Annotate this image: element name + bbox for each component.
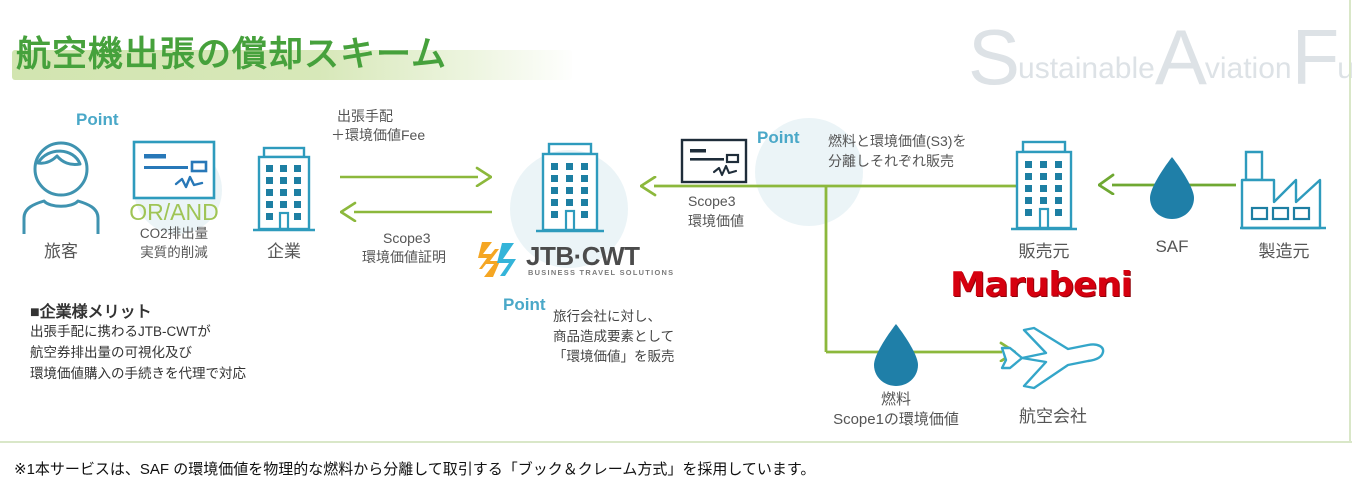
saf-watermark: SustainableAviationFuel	[968, 18, 1348, 108]
flow-label-arrange-line1: 出張手配	[337, 107, 393, 126]
certificate-icon-middle	[680, 138, 748, 184]
point-label-left: Point	[76, 110, 119, 130]
merit-line1: 出張手配に携わるJTB-CWTが	[30, 322, 211, 342]
flow-label-scope3-proof-line1: Scope3	[383, 229, 430, 248]
building-icon-jtb	[535, 142, 605, 238]
watermark-a: A	[1155, 13, 1205, 101]
diagram-canvas: SustainableAviationFuel 航空機出張の償却スキーム 旅客 …	[0, 0, 1352, 492]
fuel-caption-line1: 燃料	[862, 388, 930, 409]
person-icon	[18, 138, 104, 234]
jtb-logo-mark-icon	[478, 240, 520, 280]
watermark-f: F	[1292, 13, 1338, 101]
merit-line3: 環境価値購入の手続きを代理で対応	[30, 364, 246, 384]
airplane-icon	[1000, 322, 1106, 396]
or-and-label: OR/AND	[118, 199, 230, 226]
footnote-text: ※1本サービスは、SAF の環境価値を物理的な燃料から分離して取引する「ブック＆…	[14, 458, 815, 479]
co2-note-line2: 実質的削減	[112, 244, 236, 263]
flow-label-scope3-value-line1: Scope3	[688, 192, 735, 211]
flow-label-scope3-proof-line2: 環境価値証明	[362, 248, 446, 267]
airline-caption: 航空会社	[1000, 402, 1106, 427]
bottom-border-rule	[0, 441, 1352, 443]
marubeni-logo: Marubeni	[950, 265, 1132, 305]
page-title: 航空機出張の償却スキーム	[16, 26, 447, 77]
middle-note-line1: 燃料と環境価値(S3)を	[828, 132, 966, 151]
right-border-rule	[1349, 0, 1351, 441]
arrow-right-arrange	[340, 165, 492, 187]
arrow-left-scope3-proof	[340, 200, 492, 222]
merit-heading: ■企業様メリット	[30, 298, 152, 322]
flow-label-arrange-line2: ＋環境価値Fee	[331, 126, 425, 145]
watermark-aviation: viation	[1205, 52, 1292, 85]
point-label-jtb: Point	[503, 295, 546, 315]
merit-line2: 航空券排出量の可視化及び	[30, 343, 192, 363]
droplet-icon-fuel	[872, 322, 920, 388]
certificate-icon	[132, 140, 216, 200]
co2-note-line1: CO2排出量	[112, 225, 236, 244]
fuel-caption-line2: Scope1の環境価値	[812, 408, 980, 429]
point-label-middle: Point	[757, 128, 800, 148]
passenger-caption: 旅客	[18, 237, 104, 262]
flow-label-scope3-value-line2: 環境価値	[688, 212, 744, 231]
maker-caption: 製造元	[1244, 237, 1324, 262]
middle-note-line2: 分離しそれぞれ販売	[828, 152, 954, 171]
seller-caption: 販売元	[1004, 237, 1084, 262]
company-caption: 企業	[248, 237, 320, 262]
factory-icon	[1240, 146, 1328, 234]
building-icon-company	[252, 146, 316, 236]
watermark-sustainable: ustainable	[1018, 52, 1155, 85]
saf-caption: SAF	[1140, 237, 1204, 257]
watermark-s: S	[968, 13, 1018, 101]
droplet-icon-saf	[1148, 155, 1196, 221]
building-icon-seller	[1010, 140, 1078, 236]
